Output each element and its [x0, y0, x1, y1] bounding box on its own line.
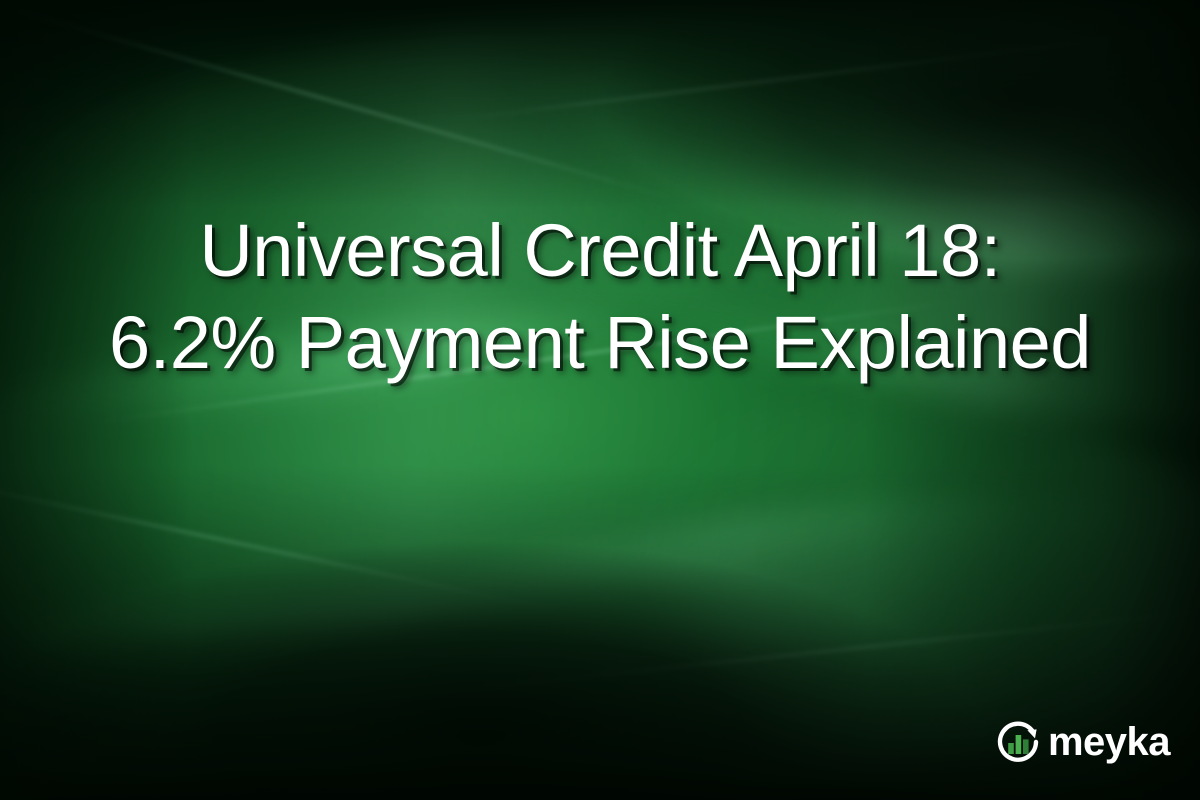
hero-card: Universal Credit April 18: 6.2% Payment … [0, 0, 1200, 800]
page-title: Universal Credit April 18: 6.2% Payment … [0, 205, 1200, 389]
brand-logo[interactable]: meyka [994, 718, 1170, 766]
title-line-1: Universal Credit April 18: [0, 205, 1200, 297]
circular-arrow-bar-chart-icon [994, 718, 1042, 766]
brand-wordmark: meyka [1048, 722, 1170, 762]
title-line-2: 6.2% Payment Rise Explained [0, 297, 1200, 389]
